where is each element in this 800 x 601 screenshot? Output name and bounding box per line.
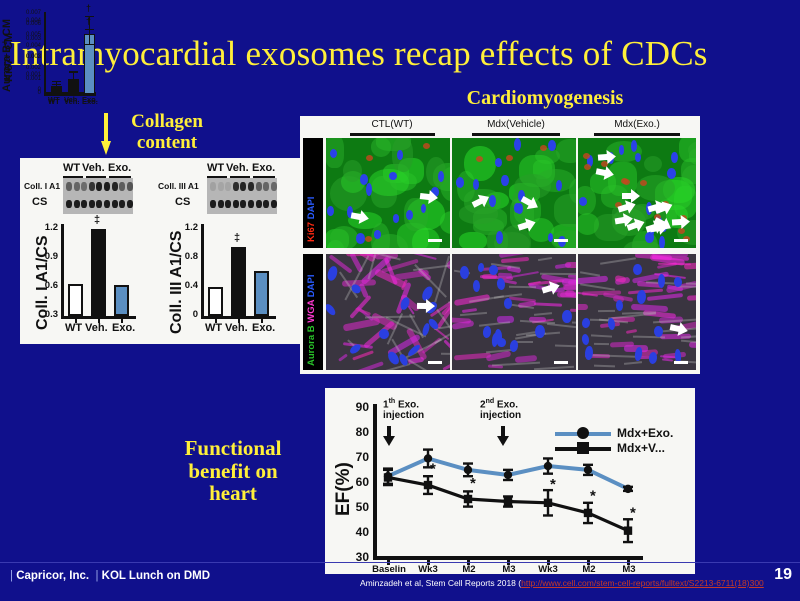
ef-series-plot: ***** [325, 388, 695, 574]
citation-text: Aminzadeh et al, Stem Cell Reports 2018 … [360, 578, 764, 588]
chart-collagenIII-ytick-1: 0.4 [176, 280, 198, 291]
blot2-row-label-collIII: Coll. III A1 [158, 181, 199, 191]
pointer-arrow-icon [418, 188, 440, 206]
ef-xlabel-1: Wk3 [405, 564, 451, 575]
western-blot-collagen-I [63, 178, 133, 214]
cardiomyogenesis-callout: Cardiomyogenesis [430, 88, 660, 110]
slide-number: 19 [774, 566, 792, 584]
aurorab-ytick-4: 0 [13, 90, 41, 96]
slide-canvas: Intramyocardial exosomes recap effects o… [0, 0, 800, 601]
bar-aurorab-veh [68, 81, 79, 94]
sig-aurorab-exo: † [86, 16, 91, 26]
bar-collagenI-wt [68, 284, 83, 316]
xlabel-collagenI-wt: WT [65, 322, 82, 334]
bar-collagenI-veh [91, 229, 106, 316]
svg-text:*: * [550, 476, 556, 493]
functional-benefit-callout: Functional benefit on heart [158, 437, 308, 505]
row-label-strip-ki67: Ki67 DAPI [303, 138, 323, 248]
svg-text:*: * [470, 475, 476, 492]
footer-branding: | Capricor, Inc. | KOL Lunch on DMD [10, 570, 210, 582]
functional-callout-line3: heart [158, 482, 308, 505]
citation-url[interactable]: http://www.cell.com/stem-cell-reports/fu… [521, 578, 764, 588]
legend-marker-vehicle-square-icon [577, 442, 589, 454]
chart-collagenIII-ytick-0: 0 [176, 309, 198, 320]
blot1-header-wt: WT [63, 162, 80, 174]
blot1-row-label-cs: CS [32, 196, 47, 208]
page-title: Intramyocardial exosomes recap effects o… [10, 34, 800, 74]
collagen-callout-line1: Collagen [112, 112, 222, 133]
micrograph-aurorab-exo [578, 254, 696, 370]
chart-collagenIII-ytick-2: 0.8 [176, 251, 198, 262]
collagen-figure-panel: WT Veh. Exo. Coll. I A1 CS Coll. I A1/CS… [20, 158, 301, 344]
xlabel-collagenIII-exo: Exo. [252, 322, 275, 334]
bar-collagenIII-veh [231, 247, 246, 316]
aurorab-xlabel-exo: Exo. [82, 97, 98, 106]
chart-collagenI-ytick-3: 1.2 [36, 222, 58, 233]
xlabel-collagenI-exo: Exo. [112, 322, 135, 334]
micro-col-header-ctl: CTL(WT) [332, 119, 452, 130]
bar-collagenI-exo [114, 285, 129, 316]
micrograph-aurorab-ctl [326, 254, 450, 370]
blot2-header-exo: Exo. [252, 162, 275, 174]
collagen-callout-line2: content [112, 133, 222, 154]
pointer-arrow-icon [597, 149, 618, 166]
ki67-ytick-5: 0.002 [13, 65, 41, 71]
xlabel-collagenI-veh: Veh. [85, 322, 108, 334]
chart-collagenI-ytick-0: 0.3 [36, 309, 58, 320]
ef-xlabel-6: M3 [606, 564, 652, 575]
blot1-header-veh: Veh. [82, 162, 105, 174]
sig-collagenIII-veh: ‡ [234, 232, 240, 244]
micro-col-header-veh: Mdx(Vehicle) [456, 119, 576, 130]
footer-company: Capricor, Inc. [16, 570, 89, 582]
micro-col-header-exo: Mdx(Exo.) [578, 119, 696, 130]
svg-text:*: * [430, 460, 436, 477]
bar-collagenIII-wt [208, 287, 223, 316]
ki67-ytick-0: 0.007 [13, 10, 41, 16]
chart-collagenIII-ytick-3: 1.2 [176, 222, 198, 233]
blot1-header-exo: Exo. [108, 162, 131, 174]
chart-collagenI-ytick-1: 0.6 [36, 280, 58, 291]
functional-callout-line2: benefit on [158, 460, 308, 483]
footer-divider [0, 562, 800, 563]
aurorab-ytick-0: 0.004 [13, 18, 41, 24]
blot1-row-label-collI: Coll. I A1 [24, 181, 60, 191]
sig-collagenI-veh: ‡ [94, 214, 100, 226]
legend-label-vehicle: Mdx+V... [617, 441, 665, 455]
aurorab-ytick-1: 0.003 [13, 36, 41, 42]
xlabel-collagenIII-veh: Veh. [225, 322, 248, 334]
micrograph-ki67-vehicle [452, 138, 576, 248]
collagen-down-arrow-icon [101, 113, 111, 157]
micrograph-ki67-exo [578, 138, 696, 248]
ki67-ytick-3: 0.004 [13, 43, 41, 49]
row-label-strip-aurorab: Aurora B WGA DAPI [303, 254, 323, 370]
microscopy-figure-panel: CTL(WT) Mdx(Vehicle) Mdx(Exo.) Ki67 DAPI… [300, 116, 700, 374]
aurorab-ytick-3: 0.001 [13, 72, 41, 78]
pointer-arrow-icon [416, 298, 436, 314]
pointer-arrow-icon [671, 213, 692, 230]
citation-prefix: Aminzadeh et al, Stem Cell Reports 2018 … [360, 578, 521, 588]
bar-aurorab-exo [84, 44, 95, 94]
aurorab-xlabel-wt: WT [48, 97, 60, 106]
ef-timecourse-panel: EF(%) 90 80 70 60 50 40 30 1th Exo. inje… [325, 388, 695, 574]
chart-collagenI-ytick-2: 0.9 [36, 251, 58, 262]
western-blot-collagen-III [207, 178, 277, 214]
sig-ki67-exo: † [86, 3, 91, 13]
legend-marker-exo-circle-icon [577, 427, 589, 439]
svg-text:*: * [590, 488, 596, 505]
micrograph-ki67-ctl [326, 138, 450, 248]
ef-xlabel-4: Wk3 [525, 564, 571, 575]
svg-text:*: * [630, 504, 636, 521]
footer-event: KOL Lunch on DMD [102, 570, 210, 582]
blot2-header-wt: WT [207, 162, 224, 174]
aurorab-ytick-2: 0.002 [13, 54, 41, 60]
bar-collagenIII-exo [254, 271, 269, 316]
legend-label-exo: Mdx+Exo. [617, 426, 673, 440]
collagen-callout: Collagen content [112, 112, 222, 153]
pointer-arrow-icon [621, 187, 641, 203]
xlabel-collagenIII-wt: WT [205, 322, 222, 334]
pointer-arrow-icon [648, 218, 670, 237]
functional-callout-line1: Functional [158, 437, 308, 460]
blot2-header-veh: Veh. [226, 162, 249, 174]
pointer-arrow-icon [594, 163, 617, 183]
aurorab-xlabel-veh: Veh. [64, 97, 79, 106]
blot2-row-label-cs: CS [175, 196, 190, 208]
micrograph-aurorab-vehicle [452, 254, 576, 370]
aurorab-chart-ylabel: Aurora B⁺ CM [0, 19, 13, 92]
